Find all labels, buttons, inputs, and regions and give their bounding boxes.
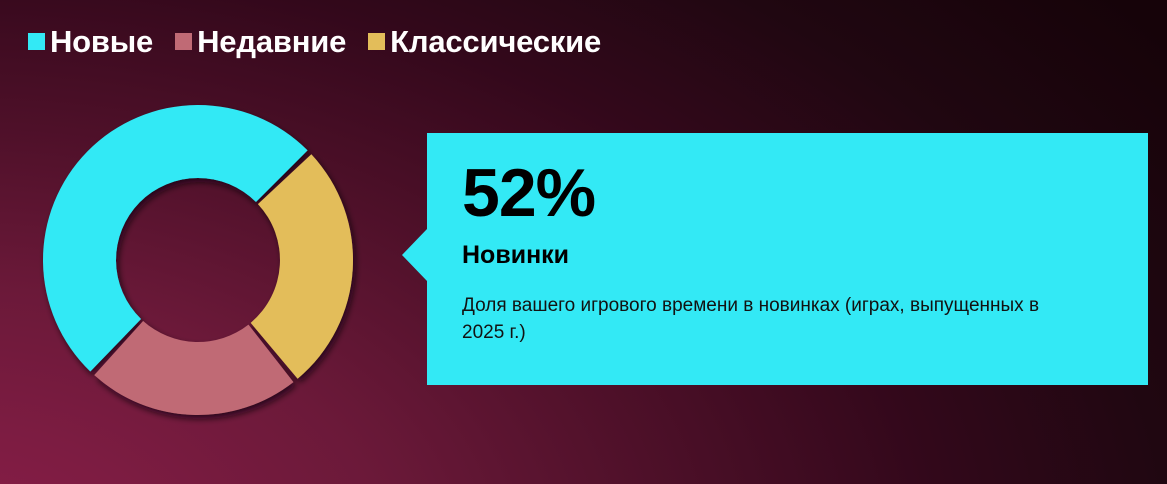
legend-item-label: Недавние bbox=[197, 26, 346, 57]
square-swatch-icon bbox=[175, 33, 192, 50]
chart-legend: Новые Недавние Классические bbox=[28, 26, 623, 57]
infographic-stage: Новые Недавние Классические 52% bbox=[0, 0, 1167, 484]
donut-slices bbox=[43, 105, 353, 415]
donut-chart-svg bbox=[24, 88, 372, 436]
legend-item-label: Классические bbox=[390, 26, 601, 57]
legend-item-label: Новые bbox=[50, 26, 153, 57]
square-swatch-icon bbox=[368, 33, 385, 50]
donut-chart bbox=[24, 88, 372, 436]
callout-title: Новинки bbox=[462, 242, 1096, 270]
callout-content: 52% Новинки Доля вашего игрового времени… bbox=[462, 133, 1122, 385]
square-swatch-icon bbox=[28, 33, 45, 50]
legend-item-novye[interactable]: Новые bbox=[28, 26, 153, 57]
callout-percent-value: 52% bbox=[462, 159, 1096, 228]
callout-card: 52% Новинки Доля вашего игрового времени… bbox=[402, 133, 1148, 385]
callout-description: Доля вашего игрового времени в новинках … bbox=[462, 292, 1080, 347]
legend-item-klassicheskie[interactable]: Классические bbox=[368, 26, 601, 57]
legend-item-nedavnie[interactable]: Недавние bbox=[175, 26, 346, 57]
